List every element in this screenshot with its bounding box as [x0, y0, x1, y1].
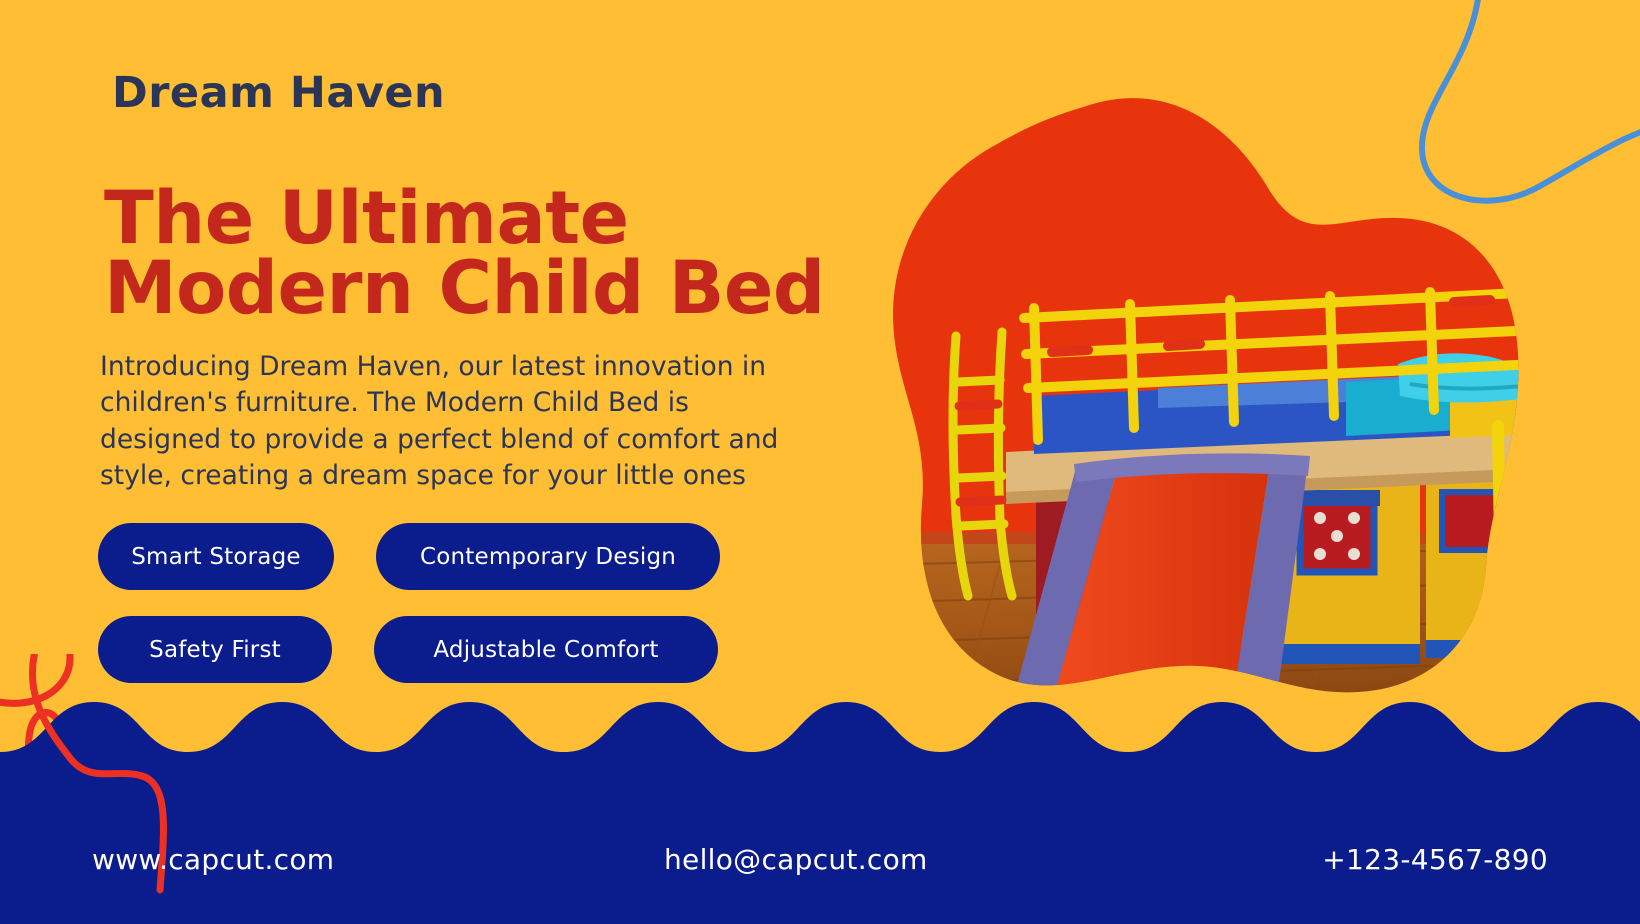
footer: www.capcut.com hello@capcut.com +123-456…	[0, 694, 1640, 924]
footer-phone[interactable]: +123-4567-890	[1322, 843, 1548, 876]
brand-eyebrow: Dream Haven	[112, 72, 445, 115]
hero-content: Dream Haven The Ultimate Modern Child Be…	[0, 0, 850, 760]
feature-pill-row-2: Safety First Adjustable Comfort	[98, 616, 738, 683]
feature-pill-adjustable-comfort[interactable]: Adjustable Comfort	[374, 616, 718, 683]
feature-pill-group: Smart Storage Contemporary Design Safety…	[98, 523, 738, 709]
footer-contact-row: www.capcut.com hello@capcut.com +123-456…	[0, 794, 1640, 924]
feature-pill-contemporary-design[interactable]: Contemporary Design	[376, 523, 720, 590]
footer-website[interactable]: www.capcut.com	[92, 843, 334, 876]
product-photo	[838, 96, 1538, 716]
feature-pill-safety-first[interactable]: Safety First	[98, 616, 332, 683]
page-title: The Ultimate Modern Child Bed	[104, 184, 864, 324]
hero-description: Introducing Dream Haven, our latest inno…	[100, 349, 800, 495]
headline-line-2: Modern Child Bed	[104, 254, 864, 324]
feature-pill-smart-storage[interactable]: Smart Storage	[98, 523, 334, 590]
promo-poster: Dream Haven The Ultimate Modern Child Be…	[0, 0, 1640, 924]
footer-email[interactable]: hello@capcut.com	[664, 843, 928, 876]
feature-pill-row-1: Smart Storage Contemporary Design	[98, 523, 738, 590]
product-photo-blob	[838, 96, 1538, 716]
